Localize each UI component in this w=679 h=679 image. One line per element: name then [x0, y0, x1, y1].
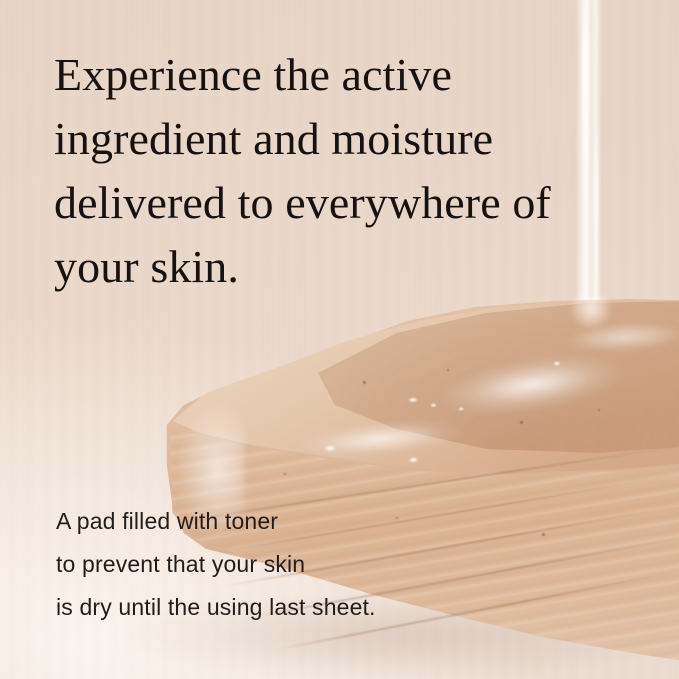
product-ad-image: Experience the active ingredient and moi…	[0, 0, 679, 679]
headline-line-2: ingredient and moisture	[54, 107, 614, 171]
headline: Experience the active ingredient and moi…	[54, 43, 614, 299]
headline-line-3: delivered to everywhere of	[54, 171, 614, 235]
headline-line-1: Experience the active	[54, 43, 614, 107]
headline-line-4: your skin.	[54, 235, 614, 299]
subcopy-line-3: is dry until the using last sheet.	[56, 586, 486, 629]
subcopy: A pad filled with toner to prevent that …	[56, 500, 486, 629]
subcopy-line-1: A pad filled with toner	[56, 500, 486, 543]
subcopy-line-2: to prevent that your skin	[56, 543, 486, 586]
